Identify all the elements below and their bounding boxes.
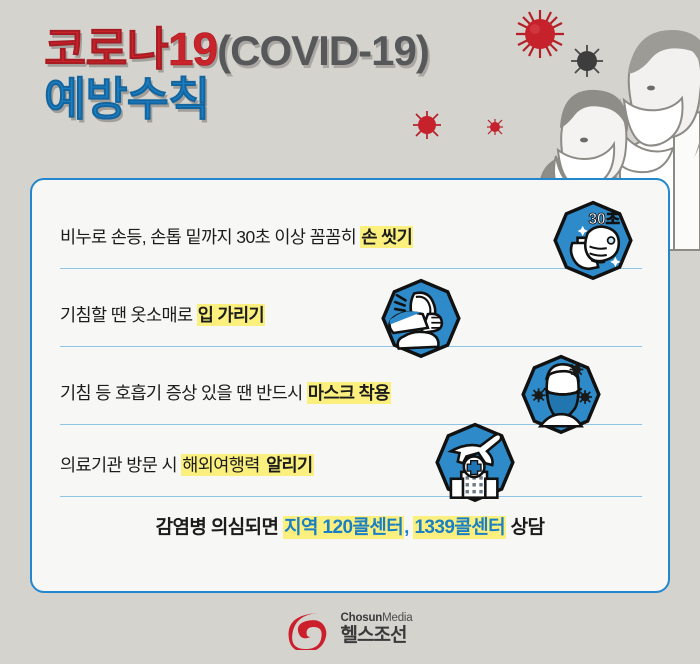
rule-2-prefix: 기침할 땐 옷소매로 xyxy=(60,305,197,325)
cough-sleeve-icon xyxy=(378,278,464,364)
rule-3-highlight: 마스크 착용 xyxy=(307,382,391,404)
logo-text-en: ChosunMedia xyxy=(341,613,413,625)
chosun-swoosh-icon xyxy=(288,608,332,650)
rule-4-highlight-normal: 해외여행력 xyxy=(181,454,265,476)
footer: ChosunMedia 헬스조선 xyxy=(0,600,700,664)
chosun-media-logo: ChosunMedia 헬스조선 xyxy=(288,608,413,650)
rule-text-4: 의료기관 방문 시 해외여행력 알리기 xyxy=(60,452,314,477)
rule-4-prefix: 의료기관 방문 시 xyxy=(60,455,181,475)
travel-history-hospital-icon xyxy=(432,422,518,508)
page-title-english: (COVID-19) xyxy=(217,27,429,74)
rule-text-3: 기침 등 호흡기 증상 있을 땐 반드시 마스크 착용 xyxy=(60,380,391,405)
rule-text-2: 기침할 땐 옷소매로 입 가리기 xyxy=(60,302,265,327)
rule-row-face-mask: 기침 등 호흡기 증상 있을 땐 반드시 마스크 착용 xyxy=(60,362,648,440)
rule-1-highlight: 손 씻기 xyxy=(360,226,413,248)
rule-text-1: 비누로 손등, 손톱 밑까지 30초 이상 꼼꼼히 손 씻기 xyxy=(60,224,413,249)
rule-row-cough-sleeve: 기침할 땐 옷소매로 입 가리기 xyxy=(60,284,648,362)
callout-center-1: 지역 120콜센터 xyxy=(283,516,404,539)
rule-divider-4 xyxy=(60,496,642,497)
title-block: 코로나19(COVID-19) 예방수칙 xyxy=(44,26,429,122)
rule-4-highlight: 알리기 xyxy=(265,454,314,476)
title-line-2: 예방수칙 xyxy=(44,76,429,122)
callout-line: 감염병 의심되면 지역 120콜센터, 1339콜센터 상담 xyxy=(32,512,668,539)
page-title-korean: 코로나19 xyxy=(44,23,217,75)
logo-text-block: ChosunMedia 헬스조선 xyxy=(341,613,413,646)
callout-center-2: 1339콜센터 xyxy=(413,516,506,539)
rules-card: 비누로 손등, 손톱 밑까지 30초 이상 꼼꼼히 손 씻기 30초 xyxy=(30,178,670,593)
rule-1-prefix: 비누로 손등, 손톱 밑까지 30초 이상 꼼꼼히 xyxy=(60,227,360,247)
callout-lead: 감염병 의심되면 xyxy=(156,517,284,538)
header: 코로나19(COVID-19) 예방수칙 xyxy=(0,0,700,178)
infographic-poster: 코로나19(COVID-19) 예방수칙 비누로 손등, 손톱 밑까지 30초 … xyxy=(0,0,700,664)
hand-washing-badge-text: 30초 xyxy=(588,210,619,228)
rule-3-prefix: 기침 등 호흡기 증상 있을 땐 반드시 xyxy=(60,383,307,403)
rule-2-highlight: 입 가리기 xyxy=(197,304,265,326)
rule-divider-2 xyxy=(60,346,642,347)
rule-row-travel-history: 의료기관 방문 시 해외여행력 알리기 xyxy=(60,434,648,512)
face-mask-icon xyxy=(518,354,604,440)
logo-text-media: Media xyxy=(382,612,412,624)
page-subtitle: 예방수칙 xyxy=(44,73,209,125)
rules-list: 비누로 손등, 손톱 밑까지 30초 이상 꼼꼼히 손 씻기 30초 xyxy=(32,180,668,591)
logo-text-kr: 헬스조선 xyxy=(341,626,413,645)
callout-tail: 상담 xyxy=(506,517,544,538)
logo-text-chosun: Chosun xyxy=(341,612,383,624)
title-line-1: 코로나19(COVID-19) xyxy=(44,26,429,72)
rule-row-hand-washing: 비누로 손등, 손톱 밑까지 30초 이상 꼼꼼히 손 씻기 30초 xyxy=(60,206,648,284)
hand-washing-icon: 30초 xyxy=(550,200,636,286)
